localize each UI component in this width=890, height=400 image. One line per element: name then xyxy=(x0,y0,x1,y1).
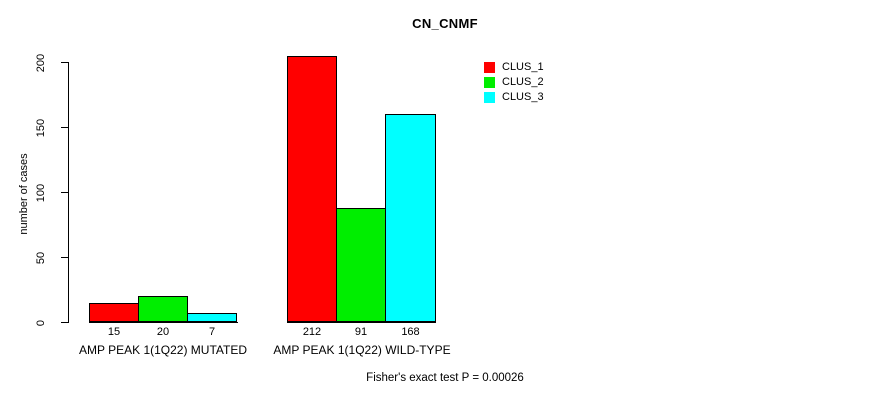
legend-label-clus1: CLUS_1 xyxy=(502,62,544,73)
statistics-annotation: Fisher's exact test P = 0.00026 xyxy=(0,372,890,384)
bar-wildtype-clus1 xyxy=(287,56,337,322)
legend: CLUS_1 CLUS_2 CLUS_3 xyxy=(484,60,544,105)
bar-mutated-clus1 xyxy=(89,303,139,323)
y-tick-label-200: 200 xyxy=(35,43,47,83)
group-label-wildtype: AMP PEAK 1(1Q22) WILD-TYPE xyxy=(212,343,512,357)
y-tick-label-50: 50 xyxy=(35,238,47,278)
group-axis-mutated xyxy=(89,322,238,323)
bar-value-wildtype-clus2: 91 xyxy=(336,326,386,338)
y-tick-mark-150 xyxy=(61,127,68,128)
bar-value-mutated-clus1: 15 xyxy=(89,326,139,338)
group-axis-wildtype xyxy=(287,322,436,323)
bar-value-mutated-clus3: 7 xyxy=(187,326,237,338)
legend-swatch-clus1 xyxy=(484,62,495,73)
y-axis-line xyxy=(68,62,69,323)
bar-value-wildtype-clus3: 168 xyxy=(385,326,436,338)
legend-label-clus2: CLUS_2 xyxy=(502,77,544,88)
legend-label-clus3: CLUS_3 xyxy=(502,92,544,103)
legend-swatch-clus2 xyxy=(484,77,495,88)
y-tick-mark-50 xyxy=(61,257,68,258)
y-tick-label-100: 100 xyxy=(35,173,47,213)
bar-value-mutated-clus2: 20 xyxy=(138,326,188,338)
y-tick-mark-0 xyxy=(61,322,68,323)
y-tick-mark-100 xyxy=(61,192,68,193)
legend-swatch-clus3 xyxy=(484,92,495,103)
y-tick-label-150: 150 xyxy=(35,108,47,148)
bar-mutated-clus2 xyxy=(138,296,188,322)
y-tick-label-0: 0 xyxy=(35,303,47,343)
bar-value-wildtype-clus1: 212 xyxy=(287,326,337,338)
bar-wildtype-clus2 xyxy=(336,208,386,322)
legend-item-clus3: CLUS_3 xyxy=(484,90,544,105)
bar-mutated-clus3 xyxy=(187,313,237,322)
legend-item-clus2: CLUS_2 xyxy=(484,75,544,90)
y-tick-mark-200 xyxy=(61,62,68,63)
legend-item-clus1: CLUS_1 xyxy=(484,60,544,75)
bar-wildtype-clus3 xyxy=(385,114,436,322)
plot-area: 200 150 100 50 0 number of cases 15 20 7… xyxy=(0,0,890,400)
y-axis-title: number of cases xyxy=(18,134,30,254)
